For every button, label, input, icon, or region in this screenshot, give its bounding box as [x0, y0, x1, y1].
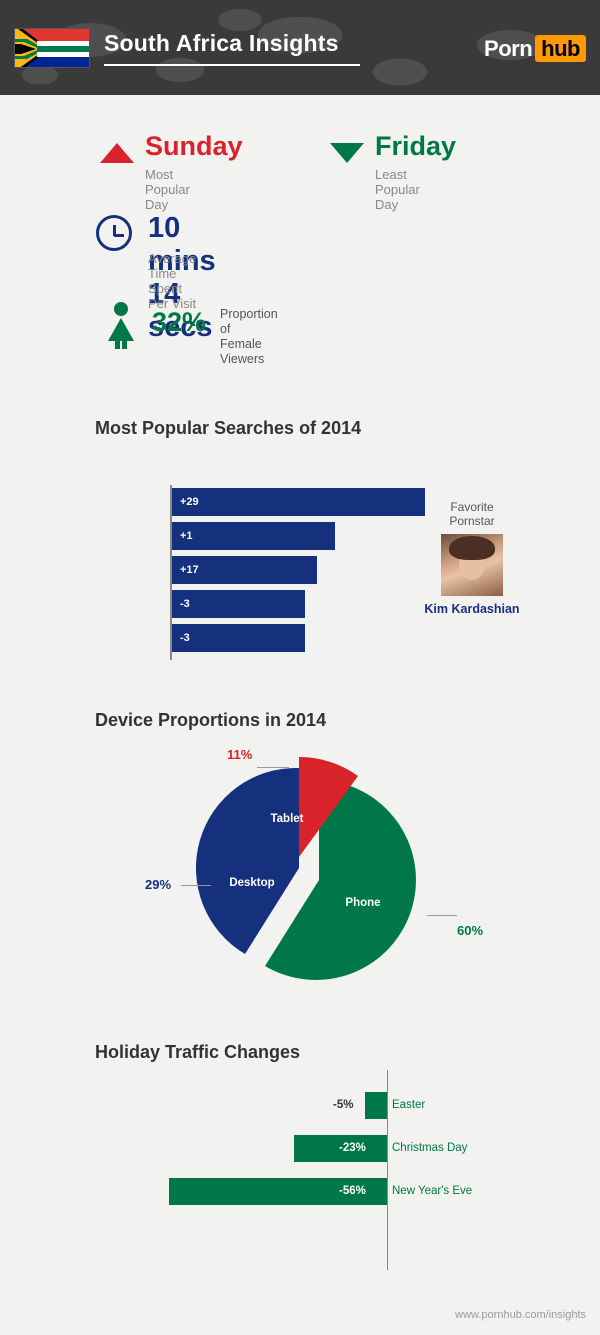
clock-icon: [96, 215, 132, 251]
page-header: South Africa Insights Pornhub: [0, 0, 600, 95]
holiday-name-easter: Easter: [392, 1092, 425, 1119]
favorite-pornstar-name: Kim Kardashian: [412, 602, 532, 616]
most-popular-day-caption: Most Popular Day: [145, 167, 190, 212]
female-viewers-value: 32%: [152, 307, 206, 338]
pie-pct-tablet: 11%: [227, 747, 252, 762]
search-value-label: +29: [180, 488, 199, 516]
device-pie-chart: Tablet Desktop Phone 11% 29% 60%: [185, 755, 455, 985]
holiday-name-christmas: Christmas Day: [392, 1135, 467, 1162]
female-figure-icon: [104, 301, 138, 349]
female-viewers-caption-line1: Proportion of: [220, 307, 278, 336]
footer-url: www.pornhub.com/insights: [455, 1309, 586, 1321]
pornhub-logo: Pornhub: [484, 36, 586, 62]
average-time-caption: Average Time Spent Per Visit: [148, 251, 196, 311]
holiday-axis: [387, 1070, 388, 1270]
most-popular-day-value: Sunday: [145, 131, 243, 162]
holiday-chart: -5% Easter -23% Christmas Day -56% New Y…: [0, 1030, 600, 1280]
pie-pct-desktop: 29%: [145, 877, 171, 892]
triangle-down-icon: [330, 143, 364, 163]
pie-label-phone: Phone: [333, 897, 393, 909]
title-underline: [104, 64, 360, 66]
page-title: South Africa Insights: [104, 30, 339, 57]
logo-hub-text: hub: [535, 35, 586, 62]
leader-line-tablet: [257, 767, 289, 768]
search-value-label: +17: [180, 556, 199, 584]
favorite-caption-line2: Pornstar: [449, 514, 494, 528]
female-viewers-caption: Proportion of Female Viewers: [220, 307, 278, 367]
triangle-up-icon: [100, 143, 134, 163]
pie-label-tablet: Tablet: [257, 813, 317, 825]
searches-section-title: Most Popular Searches of 2014: [95, 418, 361, 439]
holiday-pct-newyears: -56%: [339, 1178, 366, 1205]
search-bar: [172, 488, 425, 516]
pie-label-desktop: Desktop: [217, 877, 287, 889]
stats-section: Sunday Most Popular Day Friday Least Pop…: [0, 95, 600, 395]
pie-slice-desktop: [196, 768, 299, 954]
least-popular-day-value: Friday: [375, 131, 456, 162]
favorite-pornstar-block: Favorite Pornstar Kim Kardashian: [412, 500, 532, 616]
search-value-label: -3: [180, 624, 190, 652]
search-bar: [172, 522, 335, 550]
least-popular-day-caption: Least Popular Day: [375, 167, 420, 212]
devices-chart: Tablet Desktop Phone 11% 29% 60%: [0, 700, 600, 1030]
south-africa-flag-icon: [14, 28, 90, 68]
leader-line-desktop: [181, 885, 211, 886]
logo-porn-text: Porn: [484, 36, 532, 61]
favorite-pornstar-caption: Favorite Pornstar: [412, 500, 532, 528]
favorite-caption-line1: Favorite: [450, 500, 493, 514]
leader-line-phone: [427, 915, 457, 916]
search-bar: [172, 624, 305, 652]
holiday-name-newyears: New Year's Eve: [392, 1178, 472, 1205]
search-value-label: +1: [180, 522, 193, 550]
holiday-bar-easter: [365, 1092, 387, 1119]
pornstar-portrait-image: [441, 534, 503, 596]
searches-chart: south african +29 cartoon +1 lesbian +17…: [0, 470, 600, 700]
search-value-label: -3: [180, 590, 190, 618]
female-viewers-caption-line2: Female Viewers: [220, 337, 264, 366]
pie-pct-phone: 60%: [457, 923, 483, 938]
search-bar: [172, 590, 305, 618]
holiday-pct-christmas: -23%: [339, 1135, 366, 1162]
holiday-pct-easter: -5%: [333, 1092, 353, 1119]
